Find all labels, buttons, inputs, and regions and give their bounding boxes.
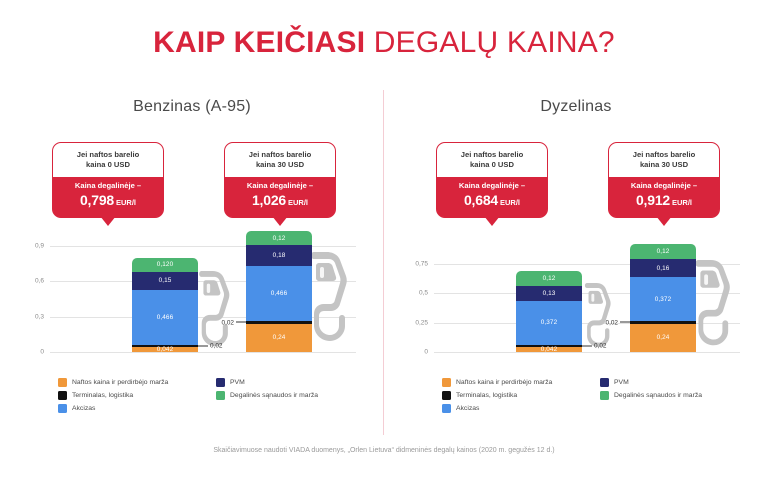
bar-segment-outside-value: 0,02: [594, 342, 606, 349]
bar-segment-label: 0,466: [271, 290, 288, 297]
callout-price-unit: EUR/l: [500, 198, 520, 207]
legend-swatch-degalines-sanaudos: [216, 391, 225, 400]
legend-swatch-terminalas: [442, 391, 451, 400]
bar-segment-pvm: 0,18: [246, 245, 312, 266]
legend-item-degalines-sanaudos: Degalinės sąnaudos ir marža: [600, 391, 760, 400]
bar-segment-akcizas: 0,466: [246, 266, 312, 321]
chart-dyzelinas: 00,250,50,750,120,130,3720,020,0420,120,…: [384, 240, 768, 375]
footer-note: Skaičiavimuose naudoti VIADA duomenys, „…: [0, 447, 768, 454]
legend-swatch-akcizas: [58, 404, 67, 413]
callout-question: Jei naftos bareliokaina 0 USD: [437, 143, 547, 177]
callout-price-label: Kaina degalinėje –: [441, 181, 543, 190]
callout-price-unit: EUR/l: [288, 198, 308, 207]
y-axis-tick-label: 0: [424, 349, 428, 356]
legend-item-akcizas: Akcizas: [58, 404, 216, 413]
callout-price-value: 0,684: [464, 192, 498, 208]
callout-price: Kaina degalinėje –1,026EUR/l: [225, 177, 335, 217]
callout-price-value: 0,798: [80, 192, 114, 208]
legend-item-naftos-kaina: Naftos kaina ir perdirbėjo marža: [442, 378, 600, 387]
bar-segment-naftos-kaina: 0,042: [132, 347, 198, 352]
callout-question: Jei naftos bareliokaina 30 USD: [609, 143, 719, 177]
bar-segment-label: 0,372: [541, 319, 558, 326]
bar-segment-pvm: 0,13: [516, 286, 582, 301]
legend-item-terminalas: Terminalas, logistika: [442, 391, 600, 400]
y-axis-tick-label: 0: [40, 349, 44, 356]
callout-price-value: 0,912: [636, 192, 670, 208]
bar-segment-label: 0,466: [157, 314, 174, 321]
gridline: [50, 352, 356, 353]
legend-label: Degalinės sąnaudos ir marža: [614, 392, 702, 399]
stacked-bar-bar-0usd: 0,1200,150,4660,020,042: [132, 258, 198, 352]
callout-pointer-icon: [100, 216, 116, 226]
callout-price: Kaina degalinėje –0,684EUR/l: [437, 177, 547, 217]
callout-pointer-icon: [272, 216, 288, 226]
callout-price-label: Kaina degalinėje –: [57, 181, 159, 190]
bar-segment-outside-label: 0,02: [582, 342, 606, 349]
callout-price-label: Kaina degalinėje –: [229, 181, 331, 190]
plot-area: 00,30,60,90,1200,150,4660,020,0420,120,1…: [50, 240, 356, 352]
plot-area: 00,250,50,750,120,130,3720,020,0420,120,…: [434, 240, 740, 352]
bar-segment-label: 0,13: [543, 290, 556, 297]
callout-question: Jei naftos bareliokaina 30 USD: [225, 143, 335, 177]
bar-segment-outside-value: 0,02: [222, 319, 234, 326]
legend-swatch-akcizas: [442, 404, 451, 413]
stacked-bar-bar-30usd: 0,120,180,4660,020,24: [246, 231, 312, 352]
legend-item-akcizas: Akcizas: [442, 404, 600, 413]
callout-benzinas-1: Jei naftos bareliokaina 30 USDKaina dega…: [224, 142, 336, 218]
legend-label: Terminalas, logistika: [72, 392, 133, 399]
legend-swatch-naftos-kaina: [442, 378, 451, 387]
legend-item-terminalas: Terminalas, logistika: [58, 391, 216, 400]
callout-price-value: 1,026: [252, 192, 286, 208]
bar-segment-outside-label: 0,02: [606, 319, 630, 326]
infographic-page: KAIP KEIČIASI DEGALŲ KAINA? Benzinas (A-…: [0, 0, 768, 491]
panel-dyzelinas: DyzelinasJei naftos bareliokaina 0 USDKa…: [384, 90, 768, 450]
legend-swatch-degalines-sanaudos: [600, 391, 609, 400]
callout-pointer-icon: [656, 216, 672, 226]
y-axis-tick-label: 0,5: [419, 290, 428, 297]
bar-segment-naftos-kaina: 0,24: [246, 324, 312, 352]
page-title-light: DEGALŲ KAINA?: [365, 26, 615, 59]
callout-dyzelinas-0: Jei naftos bareliokaina 0 USDKaina degal…: [436, 142, 548, 218]
y-axis-tick-label: 0,75: [415, 260, 428, 267]
legend-item-pvm: PVM: [600, 378, 760, 387]
bar-segment-label: 0,18: [273, 252, 286, 259]
bar-segment-label: 0,042: [541, 346, 558, 353]
legend-label: Degalinės sąnaudos ir marža: [230, 392, 318, 399]
bar-segment-outside-value: 0,02: [210, 342, 222, 349]
bar-segment-akcizas: 0,466: [132, 290, 198, 345]
legend-label: Naftos kaina ir perdirbėjo marža: [72, 379, 168, 386]
page-title-bold: KAIP KEIČIASI: [153, 26, 365, 59]
bar-segment-label: 0,15: [159, 277, 172, 284]
legend-swatch-terminalas: [58, 391, 67, 400]
legend-item-naftos-kaina: Naftos kaina ir perdirbėjo marža: [58, 378, 216, 387]
bar-segment-label: 0,12: [543, 275, 556, 282]
bar-segment-label: 0,24: [657, 334, 670, 341]
chart-benzinas: 00,30,60,90,1200,150,4660,020,0420,120,1…: [0, 240, 384, 375]
bar-segment-label: 0,24: [273, 334, 286, 341]
bar-segment-label: 0,372: [655, 296, 672, 303]
bar-segment-akcizas: 0,372: [516, 301, 582, 345]
stacked-bar-bar-0usd: 0,120,130,3720,020,042: [516, 271, 582, 352]
legend-item-pvm: PVM: [216, 378, 376, 387]
legend-swatch-naftos-kaina: [58, 378, 67, 387]
callout-price: Kaina degalinėje –0,912EUR/l: [609, 177, 719, 217]
callout-pointer-icon: [484, 216, 500, 226]
legend-label: Terminalas, logistika: [456, 392, 517, 399]
bar-segment-akcizas: 0,372: [630, 277, 696, 321]
bar-segment-label: 0,042: [157, 346, 174, 353]
legend-item-degalines-sanaudos: Degalinės sąnaudos ir marža: [216, 391, 376, 400]
bar-segment-label: 0,120: [157, 261, 174, 268]
legend-benzinas: Naftos kaina ir perdirbėjo maržaTerminal…: [58, 378, 378, 413]
bar-segment-label: 0,16: [657, 265, 670, 272]
callout-price-unit: EUR/l: [116, 198, 136, 207]
bar-segment-label: 0,12: [657, 248, 670, 255]
legend-label: Naftos kaina ir perdirbėjo marža: [456, 379, 552, 386]
y-axis-tick-label: 0,9: [35, 242, 44, 249]
gridline: [434, 352, 740, 353]
bar-segment-outside-label: 0,02: [198, 342, 222, 349]
bar-segment-degalines-sanaudos: 0,12: [246, 231, 312, 245]
legend-label: Akcizas: [456, 405, 479, 412]
stacked-bar-bar-30usd: 0,120,160,3720,020,24: [630, 244, 696, 352]
callout-price: Kaina degalinėje –0,798EUR/l: [53, 177, 163, 217]
legend-swatch-pvm: [216, 378, 225, 387]
legend-label: Akcizas: [72, 405, 95, 412]
bar-segment-pvm: 0,16: [630, 259, 696, 278]
bar-segment-naftos-kaina: 0,24: [630, 324, 696, 352]
callout-price-label: Kaina degalinėje –: [613, 181, 715, 190]
panel-title-benzinas: Benzinas (A-95): [0, 98, 384, 116]
panel-benzinas: Benzinas (A-95)Jei naftos bareliokaina 0…: [0, 90, 384, 450]
bar-segment-degalines-sanaudos: 0,12: [630, 244, 696, 258]
bar-segment-pvm: 0,15: [132, 272, 198, 290]
callout-benzinas-0: Jei naftos bareliokaina 0 USDKaina degal…: [52, 142, 164, 218]
legend-label: PVM: [230, 379, 245, 386]
bar-segment-degalines-sanaudos: 0,12: [516, 271, 582, 285]
panel-title-dyzelinas: Dyzelinas: [384, 98, 768, 116]
y-axis-tick-label: 0,3: [35, 313, 44, 320]
bar-segment-degalines-sanaudos: 0,120: [132, 258, 198, 272]
page-title: KAIP KEIČIASI DEGALŲ KAINA?: [0, 26, 768, 60]
legend-dyzelinas: Naftos kaina ir perdirbėjo maržaTerminal…: [442, 378, 762, 413]
legend-swatch-pvm: [600, 378, 609, 387]
callout-price-unit: EUR/l: [672, 198, 692, 207]
bar-segment-naftos-kaina: 0,042: [516, 347, 582, 352]
bar-segment-label: 0,12: [273, 235, 286, 242]
y-axis-tick-label: 0,6: [35, 278, 44, 285]
callout-question: Jei naftos bareliokaina 0 USD: [53, 143, 163, 177]
bar-segment-outside-value: 0,02: [606, 319, 618, 326]
y-axis-tick-label: 0,25: [415, 319, 428, 326]
callout-dyzelinas-1: Jei naftos bareliokaina 30 USDKaina dega…: [608, 142, 720, 218]
legend-label: PVM: [614, 379, 629, 386]
bar-segment-outside-label: 0,02: [222, 319, 246, 326]
